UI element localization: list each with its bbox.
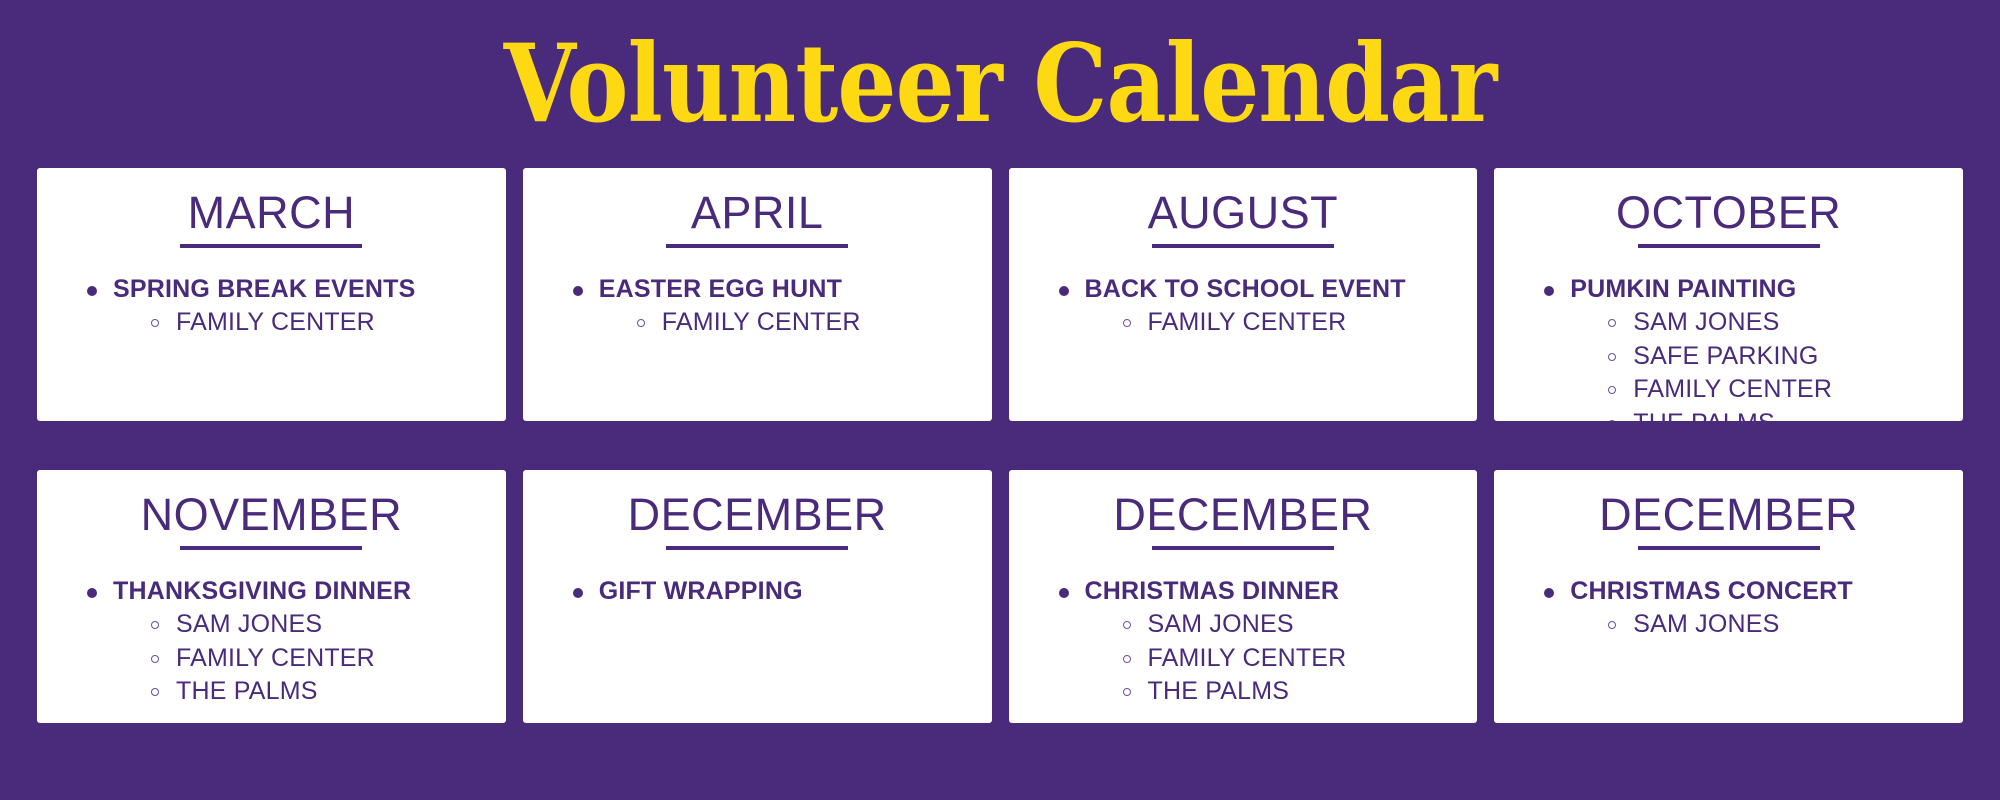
month-card: DECEMBERCHRISTMAS CONCERTSAM JONES [1494, 470, 1963, 723]
event-detail-list: SAM JONES [1570, 608, 1949, 642]
event-name: BACK TO SCHOOL EVENT [1085, 275, 1406, 303]
month-card-body: EASTER EGG HUNTFAMILY CENTER [537, 248, 978, 411]
month-name: APRIL [537, 190, 978, 236]
event-item: PUMKIN PAINTINGSAM JONESSAFE PARKINGFAMI… [1540, 274, 1949, 421]
ring-bullet-icon [637, 319, 645, 327]
event-detail-list: SAM JONESSAFE PARKINGFAMILY CENTERTHE PA… [1570, 306, 1949, 421]
event-detail-item: SAM JONES [1604, 608, 1949, 642]
month-card-header: MARCH [51, 190, 492, 248]
event-detail-label: THE PALMS [1148, 677, 1290, 705]
disc-bullet-icon [1544, 286, 1554, 296]
event-detail-list: FAMILY CENTER [113, 306, 492, 340]
month-card-body: CHRISTMAS CONCERTSAM JONES [1508, 550, 1949, 713]
month-card-header: NOVEMBER [51, 492, 492, 550]
month-name: MARCH [51, 190, 492, 236]
month-card: APRILEASTER EGG HUNTFAMILY CENTER [523, 168, 992, 421]
event-detail-list: SAM JONESFAMILY CENTERTHE PALMS [1085, 608, 1464, 709]
month-card-body: CHRISTMAS DINNERSAM JONESFAMILY CENTERTH… [1023, 550, 1464, 713]
event-item: EASTER EGG HUNTFAMILY CENTER [569, 274, 978, 340]
month-card-body: GIFT WRAPPING [537, 550, 978, 713]
month-card-header: DECEMBER [1508, 492, 1949, 550]
event-detail-item: FAMILY CENTER [633, 306, 978, 340]
ring-bullet-icon [1608, 353, 1616, 361]
month-card-header: APRIL [537, 190, 978, 248]
month-card-header: AUGUST [1023, 190, 1464, 248]
ring-bullet-icon [1608, 420, 1616, 421]
disc-bullet-icon [1059, 286, 1069, 296]
event-detail-list: FAMILY CENTER [599, 306, 978, 340]
event-list: BACK TO SCHOOL EVENTFAMILY CENTER [1055, 274, 1464, 340]
event-detail-label: SAM JONES [1633, 308, 1779, 336]
month-name: DECEMBER [1023, 492, 1464, 538]
disc-bullet-icon [573, 588, 583, 598]
event-detail-item: THE PALMS [1119, 675, 1464, 709]
month-card-body: PUMKIN PAINTINGSAM JONESSAFE PARKINGFAMI… [1508, 248, 1949, 421]
month-card: MARCHSPRING BREAK EVENTSFAMILY CENTER [37, 168, 506, 421]
ring-bullet-icon [151, 319, 159, 327]
event-detail-label: FAMILY CENTER [1633, 375, 1832, 403]
ring-bullet-icon [1608, 319, 1616, 327]
event-detail-label: FAMILY CENTER [662, 308, 861, 336]
event-detail-label: SAM JONES [1148, 610, 1294, 638]
event-detail-label: SAFE PARKING [1633, 342, 1818, 370]
event-detail-item: FAMILY CENTER [1604, 373, 1949, 407]
event-detail-item: SAM JONES [147, 608, 492, 642]
event-detail-item: SAM JONES [1119, 608, 1464, 642]
event-detail-label: FAMILY CENTER [1148, 308, 1347, 336]
event-list: SPRING BREAK EVENTSFAMILY CENTER [83, 274, 492, 340]
month-name: DECEMBER [537, 492, 978, 538]
disc-bullet-icon [1544, 588, 1554, 598]
event-list: CHRISTMAS DINNERSAM JONESFAMILY CENTERTH… [1055, 576, 1464, 709]
ring-bullet-icon [1123, 621, 1131, 629]
month-card: NOVEMBERTHANKSGIVING DINNERSAM JONESFAMI… [37, 470, 506, 723]
event-detail-item: FAMILY CENTER [1119, 306, 1464, 340]
event-item: CHRISTMAS CONCERTSAM JONES [1540, 576, 1949, 642]
disc-bullet-icon [87, 286, 97, 296]
event-detail-label: THE PALMS [176, 677, 318, 705]
event-detail-label: FAMILY CENTER [176, 308, 375, 336]
disc-bullet-icon [573, 286, 583, 296]
event-item: GIFT WRAPPING [569, 576, 978, 607]
month-name: AUGUST [1023, 190, 1464, 236]
month-card-body: BACK TO SCHOOL EVENTFAMILY CENTER [1023, 248, 1464, 411]
event-list: PUMKIN PAINTINGSAM JONESSAFE PARKINGFAMI… [1540, 274, 1949, 421]
disc-bullet-icon [1059, 588, 1069, 598]
month-card-header: OCTOBER [1508, 190, 1949, 248]
month-card: AUGUSTBACK TO SCHOOL EVENTFAMILY CENTER [1009, 168, 1478, 421]
ring-bullet-icon [1608, 386, 1616, 394]
event-detail-label: FAMILY CENTER [1148, 644, 1347, 672]
event-list: CHRISTMAS CONCERTSAM JONES [1540, 576, 1949, 642]
month-card-header: DECEMBER [537, 492, 978, 550]
ring-bullet-icon [1123, 655, 1131, 663]
event-detail-item: FAMILY CENTER [1119, 642, 1464, 676]
month-card: OCTOBERPUMKIN PAINTINGSAM JONESSAFE PARK… [1494, 168, 1963, 421]
month-name: DECEMBER [1508, 492, 1949, 538]
ring-bullet-icon [1123, 688, 1131, 696]
month-card-body: SPRING BREAK EVENTSFAMILY CENTER [51, 248, 492, 411]
event-detail-label: FAMILY CENTER [176, 644, 375, 672]
month-card-body: THANKSGIVING DINNERSAM JONESFAMILY CENTE… [51, 550, 492, 713]
event-list: THANKSGIVING DINNERSAM JONESFAMILY CENTE… [83, 576, 492, 709]
event-detail-label: SAM JONES [1633, 610, 1779, 638]
month-card: DECEMBERGIFT WRAPPING [523, 470, 992, 723]
event-detail-label: THE PALMS [1633, 409, 1775, 421]
event-detail-item: SAFE PARKING [1604, 340, 1949, 374]
event-detail-item: THE PALMS [147, 675, 492, 709]
event-name: SPRING BREAK EVENTS [113, 275, 415, 303]
event-detail-item: FAMILY CENTER [147, 306, 492, 340]
event-name: CHRISTMAS DINNER [1085, 577, 1340, 605]
disc-bullet-icon [87, 588, 97, 598]
event-detail-list: FAMILY CENTER [1085, 306, 1464, 340]
event-item: CHRISTMAS DINNERSAM JONESFAMILY CENTERTH… [1055, 576, 1464, 709]
event-item: THANKSGIVING DINNERSAM JONESFAMILY CENTE… [83, 576, 492, 709]
event-name: CHRISTMAS CONCERT [1570, 577, 1853, 605]
ring-bullet-icon [151, 688, 159, 696]
event-detail-list: SAM JONESFAMILY CENTERTHE PALMS [113, 608, 492, 709]
month-name: NOVEMBER [51, 492, 492, 538]
ring-bullet-icon [151, 621, 159, 629]
event-detail-item: FAMILY CENTER [147, 642, 492, 676]
event-detail-item: THE PALMS [1604, 407, 1949, 421]
ring-bullet-icon [151, 655, 159, 663]
volunteer-calendar-page: Volunteer Calendar MARCHSPRING BREAK EVE… [0, 0, 2000, 800]
event-name: EASTER EGG HUNT [599, 275, 842, 303]
page-title: Volunteer Calendar [504, 30, 1497, 138]
month-card-header: DECEMBER [1023, 492, 1464, 550]
month-card-grid: MARCHSPRING BREAK EVENTSFAMILY CENTERAPR… [0, 168, 2000, 800]
event-detail-label: SAM JONES [176, 610, 322, 638]
month-name: OCTOBER [1508, 190, 1949, 236]
event-name: PUMKIN PAINTING [1570, 275, 1796, 303]
event-item: SPRING BREAK EVENTSFAMILY CENTER [83, 274, 492, 340]
event-list: GIFT WRAPPING [569, 576, 978, 607]
page-header: Volunteer Calendar [0, 0, 2000, 168]
event-item: BACK TO SCHOOL EVENTFAMILY CENTER [1055, 274, 1464, 340]
event-list: EASTER EGG HUNTFAMILY CENTER [569, 274, 978, 340]
event-name: GIFT WRAPPING [599, 577, 803, 605]
ring-bullet-icon [1608, 621, 1616, 629]
event-name: THANKSGIVING DINNER [113, 577, 411, 605]
ring-bullet-icon [1123, 319, 1131, 327]
month-card: DECEMBERCHRISTMAS DINNERSAM JONESFAMILY … [1009, 470, 1478, 723]
event-detail-item: SAM JONES [1604, 306, 1949, 340]
